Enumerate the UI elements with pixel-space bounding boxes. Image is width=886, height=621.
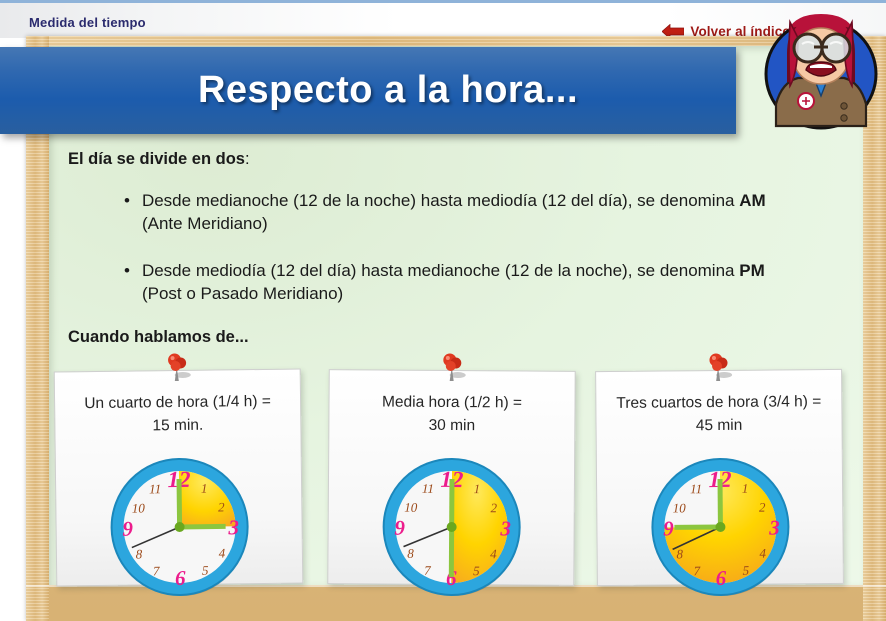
svg-text:4: 4 (490, 546, 497, 561)
svg-text:5: 5 (473, 563, 480, 578)
svg-text:4: 4 (218, 545, 225, 560)
pushpin-icon (438, 351, 468, 383)
card-caption: Media hora (1/2 h) = 30 min (335, 390, 568, 438)
svg-text:6: 6 (174, 566, 185, 590)
svg-text:4: 4 (759, 546, 766, 561)
slide-title-banner: Respecto a la hora... (0, 47, 736, 134)
svg-text:7: 7 (424, 563, 431, 578)
svg-text:10: 10 (404, 500, 418, 515)
bullet-text-part2: (Ante Meridiano) (142, 214, 268, 233)
bullet-text-part2: (Post o Pasado Meridiano) (142, 284, 343, 303)
card-caption-line1: Tres cuartos de hora (3/4 h) = (602, 390, 835, 415)
card-caption-line2: 45 min (602, 413, 835, 438)
svg-text:8: 8 (135, 546, 142, 561)
list-item: • Desde mediodía (12 del día) hasta medi… (124, 260, 804, 306)
section-subheading: Cuando hablamos de... (68, 328, 249, 347)
svg-text:9: 9 (394, 516, 405, 540)
card-caption-line2: 30 min (335, 413, 568, 438)
list-item[interactable]: Tres cuartos de hora (3/4 h) = 45 min 12… (595, 369, 844, 586)
card-caption-line2: 15 min. (61, 413, 294, 439)
bullet-marker: • (124, 190, 130, 236)
svg-text:3: 3 (499, 516, 511, 540)
svg-text:3: 3 (768, 515, 780, 539)
svg-text:11: 11 (149, 481, 161, 496)
svg-text:2: 2 (490, 500, 497, 515)
bullet-text-strong: PM (739, 261, 765, 280)
lead-statement-tail: : (245, 150, 250, 168)
card-caption: Tres cuartos de hora (3/4 h) = 45 min (602, 390, 835, 439)
page-title: Respecto a la hora... (158, 69, 578, 112)
list-item[interactable]: Media hora (1/2 h) = 30 min 12 3 6 9 1 2… (327, 369, 575, 586)
svg-text:8: 8 (676, 546, 683, 561)
svg-text:7: 7 (152, 563, 159, 578)
svg-text:9: 9 (122, 517, 133, 541)
card-caption-line1: Un cuarto de hora (1/4 h) = (61, 390, 294, 416)
svg-text:6: 6 (715, 566, 726, 590)
svg-text:9: 9 (663, 516, 674, 540)
svg-text:8: 8 (407, 546, 414, 561)
card-caption-line1: Media hora (1/2 h) = (335, 390, 568, 415)
pushpin-icon (704, 351, 734, 383)
lead-statement: El día se divide en dos: (68, 150, 250, 169)
student-avatar-icon (762, 8, 880, 130)
svg-text:2: 2 (218, 499, 225, 514)
bullet-text: Desde medianoche (12 de la noche) hasta … (142, 190, 804, 236)
app-header-bar: Medida del tiempo Volver al índice (0, 0, 886, 38)
svg-text:7: 7 (693, 563, 700, 578)
svg-text:5: 5 (201, 563, 208, 578)
card-caption: Un cuarto de hora (1/4 h) = 15 min. (61, 390, 295, 439)
svg-text:10: 10 (672, 500, 686, 515)
svg-text:1: 1 (741, 481, 748, 496)
svg-text:5: 5 (742, 563, 749, 578)
page-subject-title: Medida del tiempo (29, 15, 146, 30)
list-item[interactable]: Un cuarto de hora (1/4 h) = 15 min. 12 3… (54, 368, 304, 586)
frame-top-edge (26, 36, 886, 46)
bullet-text-strong: AM (739, 191, 765, 210)
svg-text:11: 11 (690, 481, 702, 496)
svg-text:2: 2 (758, 500, 765, 515)
svg-text:1: 1 (200, 481, 207, 496)
clock-face-quarter-hour: 12 3 6 9 1 2 4 5 7 8 10 11 (104, 452, 254, 602)
list-item: • Desde medianoche (12 de la noche) hast… (124, 190, 804, 236)
clock-face-half-hour: 12 3 6 9 1 2 4 5 7 8 10 11 (377, 452, 526, 601)
bullet-text-part1: Desde mediodía (12 del día) hasta median… (142, 261, 739, 280)
pushpin-icon (162, 351, 192, 383)
lead-statement-bold: El día se divide en dos (68, 150, 245, 168)
clock-face-three-quarter-hour: 12 3 6 9 1 2 4 5 7 8 10 11 (645, 452, 794, 601)
svg-text:3: 3 (227, 515, 239, 539)
svg-text:10: 10 (131, 500, 145, 515)
bullet-marker: • (124, 260, 130, 306)
svg-text:11: 11 (421, 481, 433, 496)
bullet-text-part1: Desde medianoche (12 de la noche) hasta … (142, 191, 739, 210)
svg-text:1: 1 (473, 481, 480, 496)
bullet-text: Desde mediodía (12 del día) hasta median… (142, 260, 804, 306)
